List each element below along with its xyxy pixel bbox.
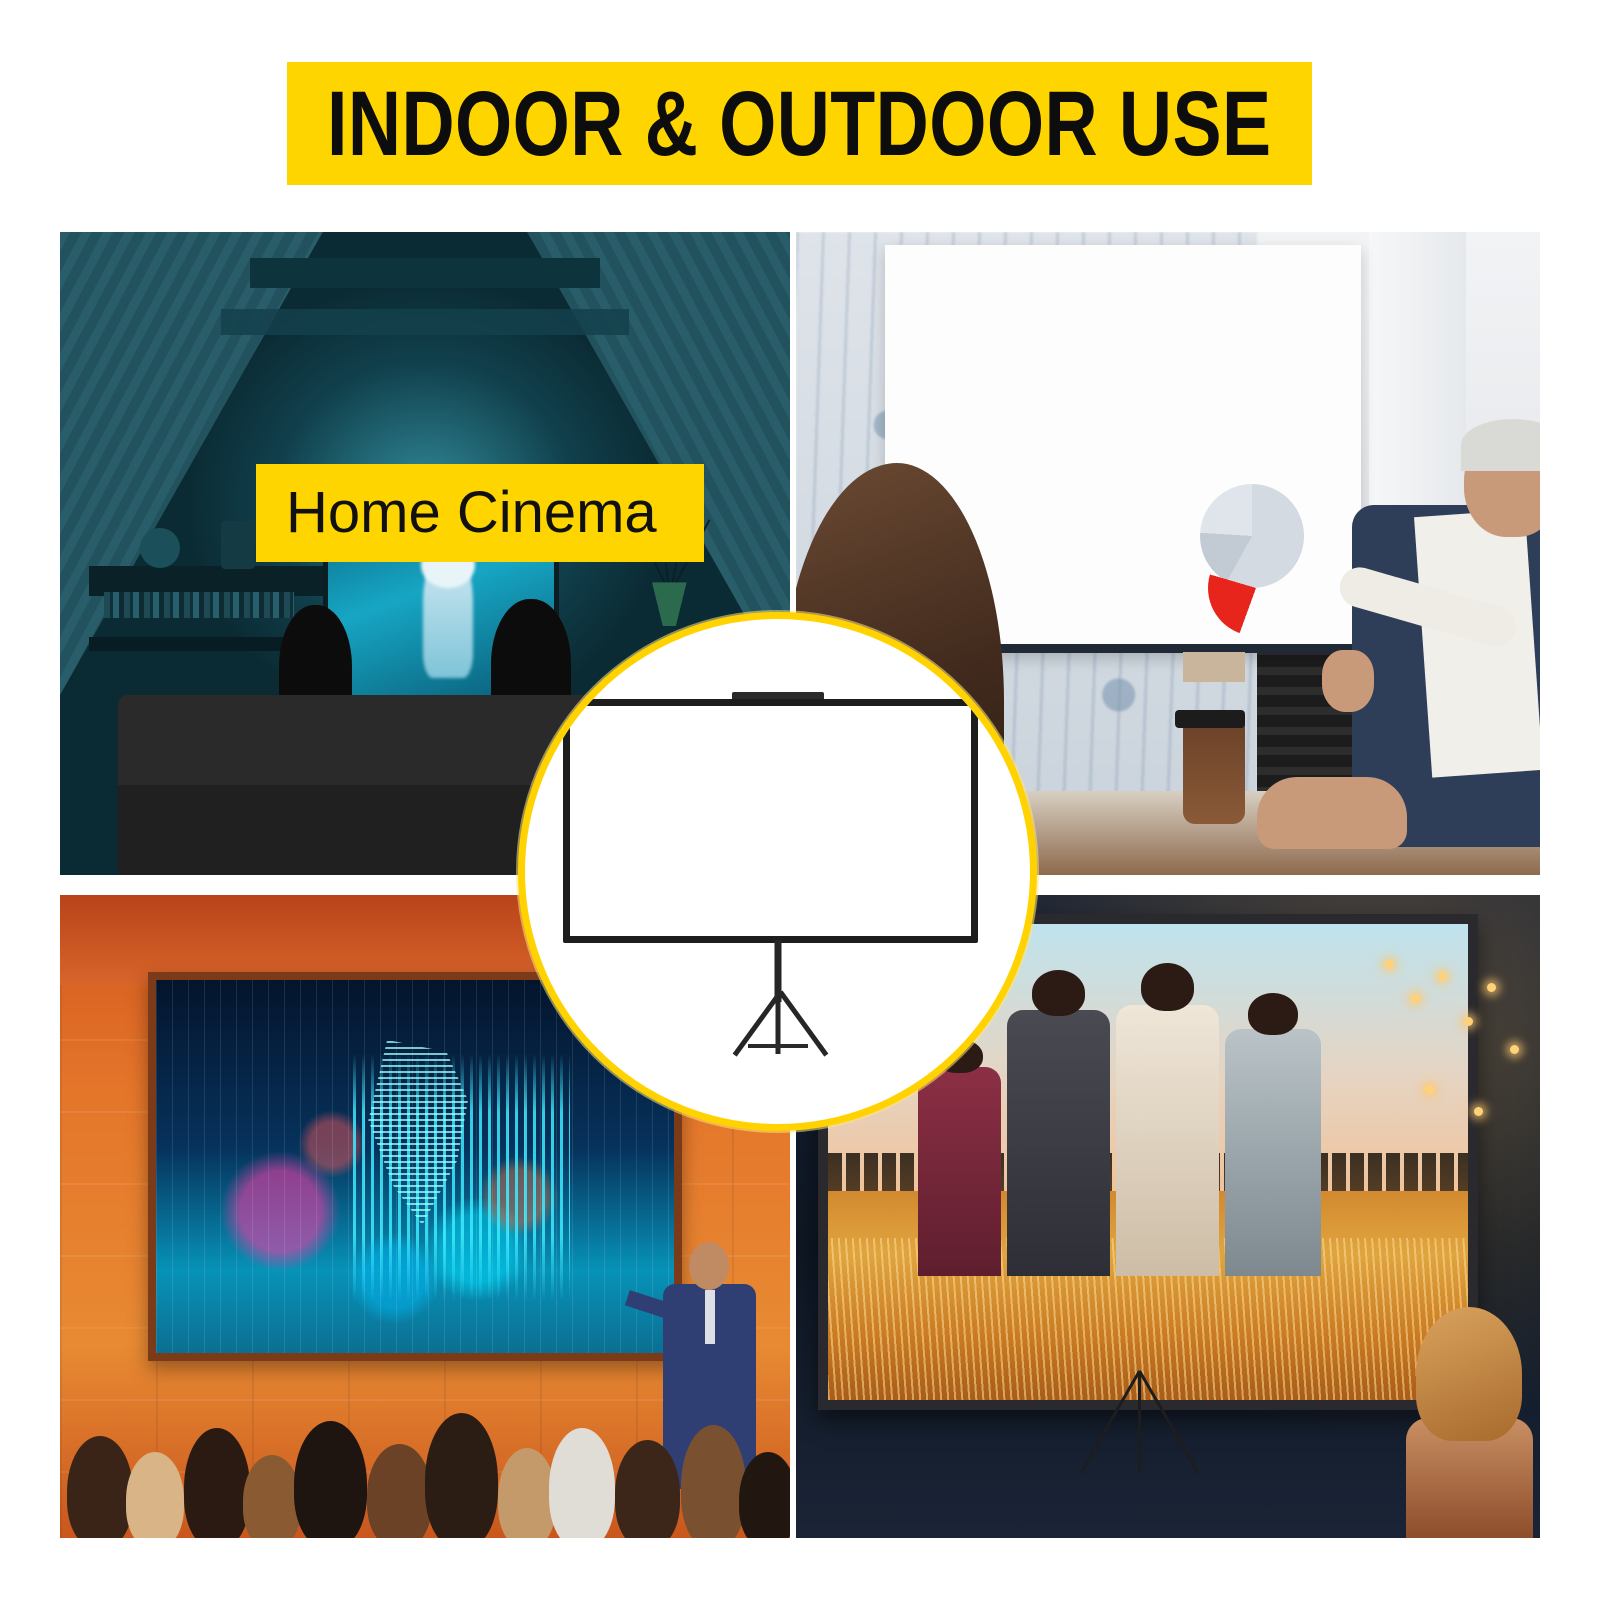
foreground-viewer — [1406, 1307, 1532, 1538]
friend-figure — [1007, 1010, 1109, 1276]
caption-home-cinema: Home Cinema — [256, 464, 704, 562]
coffee-cup — [1183, 720, 1245, 824]
title-banner: INDOOR & OUTDOOR USE — [287, 62, 1312, 185]
friend-figure — [1116, 1005, 1218, 1276]
friend-figure — [918, 1067, 1001, 1276]
tripod-projector-screen — [563, 692, 993, 1052]
caption-label: Home Cinema — [286, 484, 657, 542]
product-feature-poster: INDOOR & OUTDOOR USE — [0, 0, 1600, 1600]
tripod-legs — [688, 992, 868, 1064]
string-lights — [1369, 921, 1533, 1204]
friend-figure — [1225, 1029, 1321, 1276]
screen-tripod — [1138, 1371, 1141, 1471]
product-circle-inset — [518, 612, 1037, 1131]
page-title: INDOOR & OUTDOOR USE — [327, 78, 1271, 170]
audience-crowd — [60, 1345, 790, 1538]
screen-surface — [563, 699, 978, 943]
pie-chart-red-slice — [1208, 540, 1304, 636]
